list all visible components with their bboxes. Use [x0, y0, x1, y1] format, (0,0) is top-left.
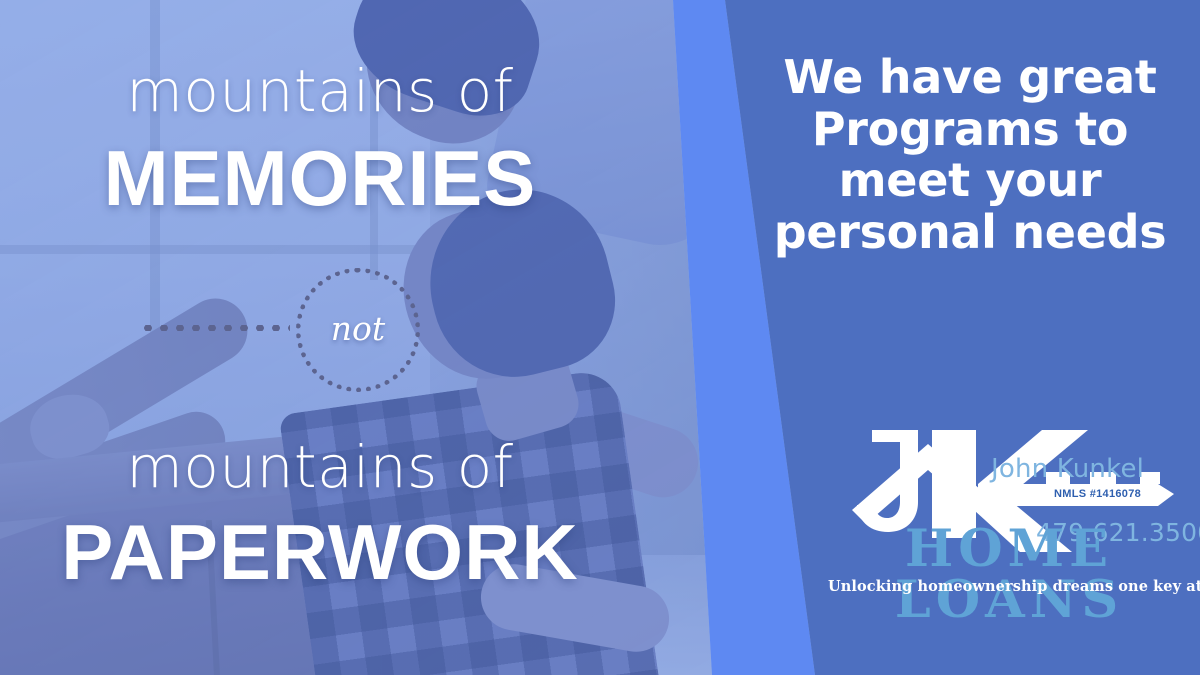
loan-officer-name: John Kunkel: [991, 454, 1144, 484]
company-tagline: Unlocking homeownership dreams one key a…: [828, 578, 1190, 595]
dotted-connector-line: [140, 325, 290, 331]
not-label: not: [296, 268, 420, 392]
not-badge: not: [296, 268, 420, 392]
memories-subline: mountains of: [0, 62, 640, 120]
left-headline-group: mountains of MEMORIES not mountains of P…: [0, 0, 700, 675]
marketing-banner: mountains of MEMORIES not mountains of P…: [0, 0, 1200, 675]
paperwork-subline: mountains of: [0, 438, 640, 496]
right-headline: We have great Programs to meet your pers…: [760, 52, 1180, 258]
company-name: HOME LOANS: [828, 524, 1190, 626]
jk-home-loans-logo[interactable]: John Kunkel NMLS #1416078 479.621.3500 H…: [828, 418, 1190, 618]
memories-headline: MEMORIES: [0, 136, 640, 222]
nmls-id: NMLS #1416078: [1054, 488, 1141, 500]
paperwork-headline: PAPERWORK: [0, 510, 640, 596]
